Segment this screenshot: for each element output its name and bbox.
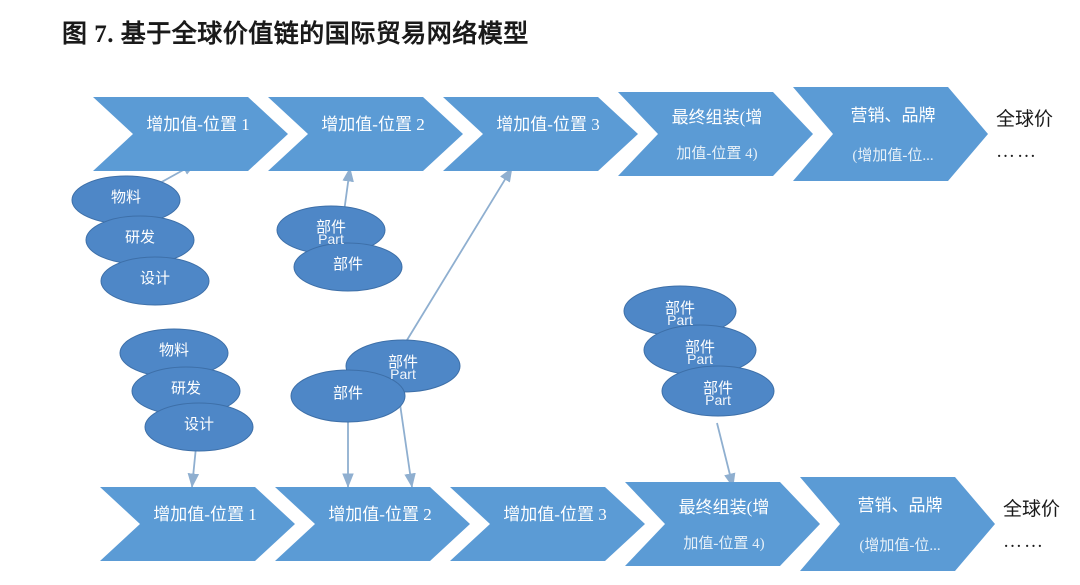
node-label: 部件 Part	[353, 356, 453, 379]
chevron-upper-stage-2-label: 增加值-位置 2	[308, 110, 438, 135]
node-label: 研发	[90, 231, 190, 246]
node-label: 部件 Part	[630, 302, 730, 325]
chevron-lower-stage-1-label: 增加值-位置 1	[140, 500, 270, 525]
node-label: 部件 Part	[668, 382, 768, 405]
node-label: 物料	[124, 344, 224, 359]
lower-chain-end-label: 全球价	[1003, 494, 1060, 521]
node-label-cn: 研发	[90, 231, 190, 246]
node-label: 部件 Part	[650, 341, 750, 364]
chevron-upper-stage-5-sublabel: (增加值-位...	[828, 144, 958, 165]
chevron-lower-stage-5-sublabel: (增加值-位...	[835, 534, 965, 555]
node-label-en: Part	[630, 317, 730, 325]
figure-page: 图 7. 基于全球价值链的国际贸易网络模型	[0, 0, 1080, 585]
arrow-upper-part-cluster-to-stage2	[344, 168, 350, 212]
node-label: 研发	[136, 382, 236, 397]
chevron-upper-stage-1-label: 增加值-位置 1	[133, 110, 263, 135]
node-label-en: Part	[650, 356, 750, 364]
upper-chain-end-label: 全球价	[996, 104, 1053, 131]
chevron-upper-stage-3-label: 增加值-位置 3	[483, 110, 613, 135]
node-label-cn: 设计	[149, 418, 249, 433]
chevron-lower-stage-2-label: 增加值-位置 2	[315, 500, 445, 525]
node-label-cn: 设计	[105, 272, 205, 287]
node-label: 部件	[298, 258, 398, 273]
arrow-right-part-cluster-to-bottom-stage4	[717, 423, 733, 487]
node-label-cn: 部件	[298, 387, 398, 402]
chevron-lower-stage-5-label: 营销、品牌	[835, 491, 965, 516]
upper-chain-end-label-sub: ……	[996, 141, 1038, 163]
node-label-en: Part	[281, 236, 381, 244]
chevron-lower-stage-4-label: 最终组装(增	[659, 493, 789, 518]
node-label-cn: 物料	[76, 191, 176, 206]
node-label: 物料	[76, 191, 176, 206]
node-label-cn: 研发	[136, 382, 236, 397]
node-label: 部件	[298, 387, 398, 402]
chevron-upper-stage-4-label: 最终组装(增	[652, 103, 782, 128]
arrow-lower-part-cluster2-to-bottom-stage2	[400, 404, 412, 487]
node-label: 部件 Part	[281, 221, 381, 244]
node-label: 设计	[149, 418, 249, 433]
node-label-cn: 部件	[298, 258, 398, 273]
part-cluster-upper-middle	[277, 206, 402, 291]
chevron-lower-stage-3-label: 增加值-位置 3	[490, 500, 620, 525]
node-label: 设计	[105, 272, 205, 287]
arrow-lower-part-cluster-to-stage3	[404, 168, 512, 345]
node-label-en: Part	[668, 397, 768, 405]
chevron-lower-stage-4-sublabel: 加值-位置 4)	[659, 532, 789, 553]
node-label-cn: 物料	[124, 344, 224, 359]
node-label-en: Part	[353, 371, 453, 379]
part-cluster-lower-middle	[291, 340, 460, 422]
chevron-upper-stage-4-sublabel: 加值-位置 4)	[652, 142, 782, 163]
chevron-upper-stage-5-label: 营销、品牌	[828, 101, 958, 126]
lower-chain-end-label-sub: ……	[1003, 531, 1045, 553]
